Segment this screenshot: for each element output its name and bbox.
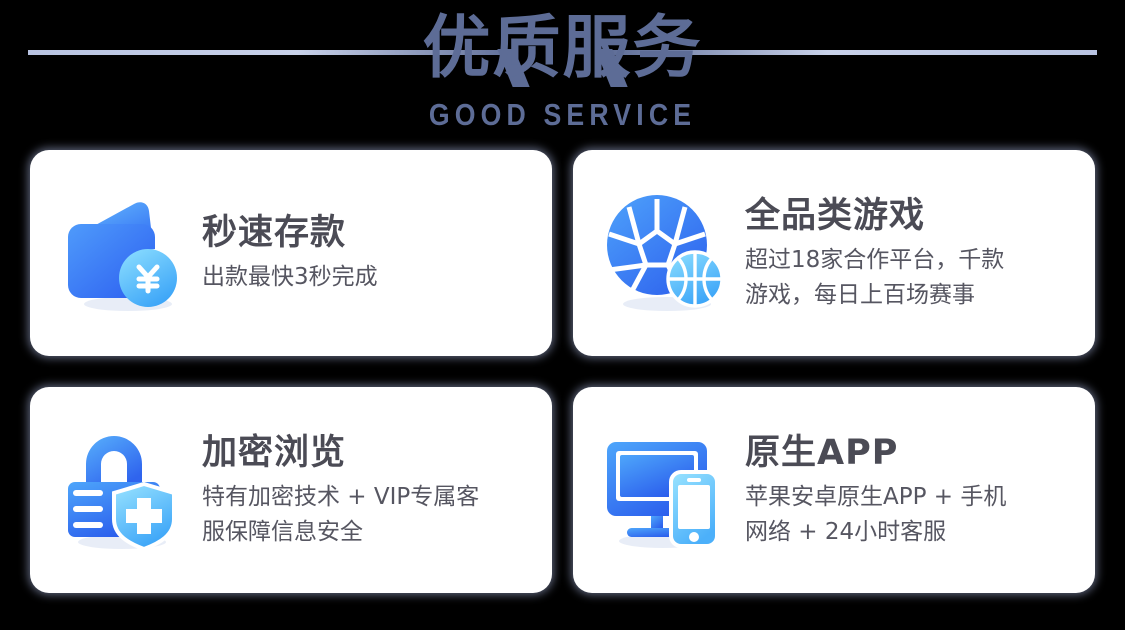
monitor-phone-icon [599, 424, 731, 556]
card-text-block: 秒速存款 出款最快3秒完成 [188, 211, 538, 295]
card-text-block: 全品类游戏 超过18家合作平台，千款 游戏，每日上百场赛事 [731, 194, 1081, 313]
card-description-line: 出款最快3秒完成 [202, 260, 538, 295]
feature-card-native-app[interactable]: 原生APP 苹果安卓原生APP + 手机 网络 + 24小时客服 [573, 387, 1095, 593]
card-text-block: 原生APP 苹果安卓原生APP + 手机 网络 + 24小时客服 [731, 431, 1081, 550]
card-description: 出款最快3秒完成 [202, 260, 538, 295]
feature-card-deposit[interactable]: 秒速存款 出款最快3秒完成 [30, 150, 552, 356]
feature-card-grid: 秒速存款 出款最快3秒完成 [30, 150, 1095, 593]
card-title: 原生APP [745, 431, 1081, 476]
card-description: 超过18家合作平台，千款 游戏，每日上百场赛事 [745, 243, 1081, 313]
card-text-block: 加密浏览 特有加密技术 + VIP专属客 服保障信息安全 [188, 431, 538, 550]
lock-shield-icon [56, 424, 188, 556]
card-title: 全品类游戏 [745, 194, 1081, 239]
soccer-basketball-icon [599, 187, 731, 319]
card-description-line: 苹果安卓原生APP + 手机 [745, 480, 1081, 515]
page-header: 优质服务 GOOD SERVICE [0, 0, 1125, 145]
card-description-line: 网络 + 24小时客服 [745, 515, 1081, 550]
page-subtitle: GOOD SERVICE [79, 98, 1047, 132]
wallet-yen-icon [56, 187, 188, 319]
card-description: 特有加密技术 + VIP专属客 服保障信息安全 [202, 480, 538, 550]
card-description-line: 服保障信息安全 [202, 515, 538, 550]
card-description: 苹果安卓原生APP + 手机 网络 + 24小时客服 [745, 480, 1081, 550]
feature-card-games[interactable]: 全品类游戏 超过18家合作平台，千款 游戏，每日上百场赛事 [573, 150, 1095, 356]
card-description-line: 特有加密技术 + VIP专属客 [202, 480, 538, 515]
card-title: 加密浏览 [202, 431, 538, 476]
card-description-line: 超过18家合作平台，千款 [745, 243, 1081, 278]
card-description-line: 游戏，每日上百场赛事 [745, 278, 1081, 313]
card-title: 秒速存款 [202, 211, 538, 256]
feature-card-encryption[interactable]: 加密浏览 特有加密技术 + VIP专属客 服保障信息安全 [30, 387, 552, 593]
page-title: 优质服务 [0, 8, 1125, 90]
